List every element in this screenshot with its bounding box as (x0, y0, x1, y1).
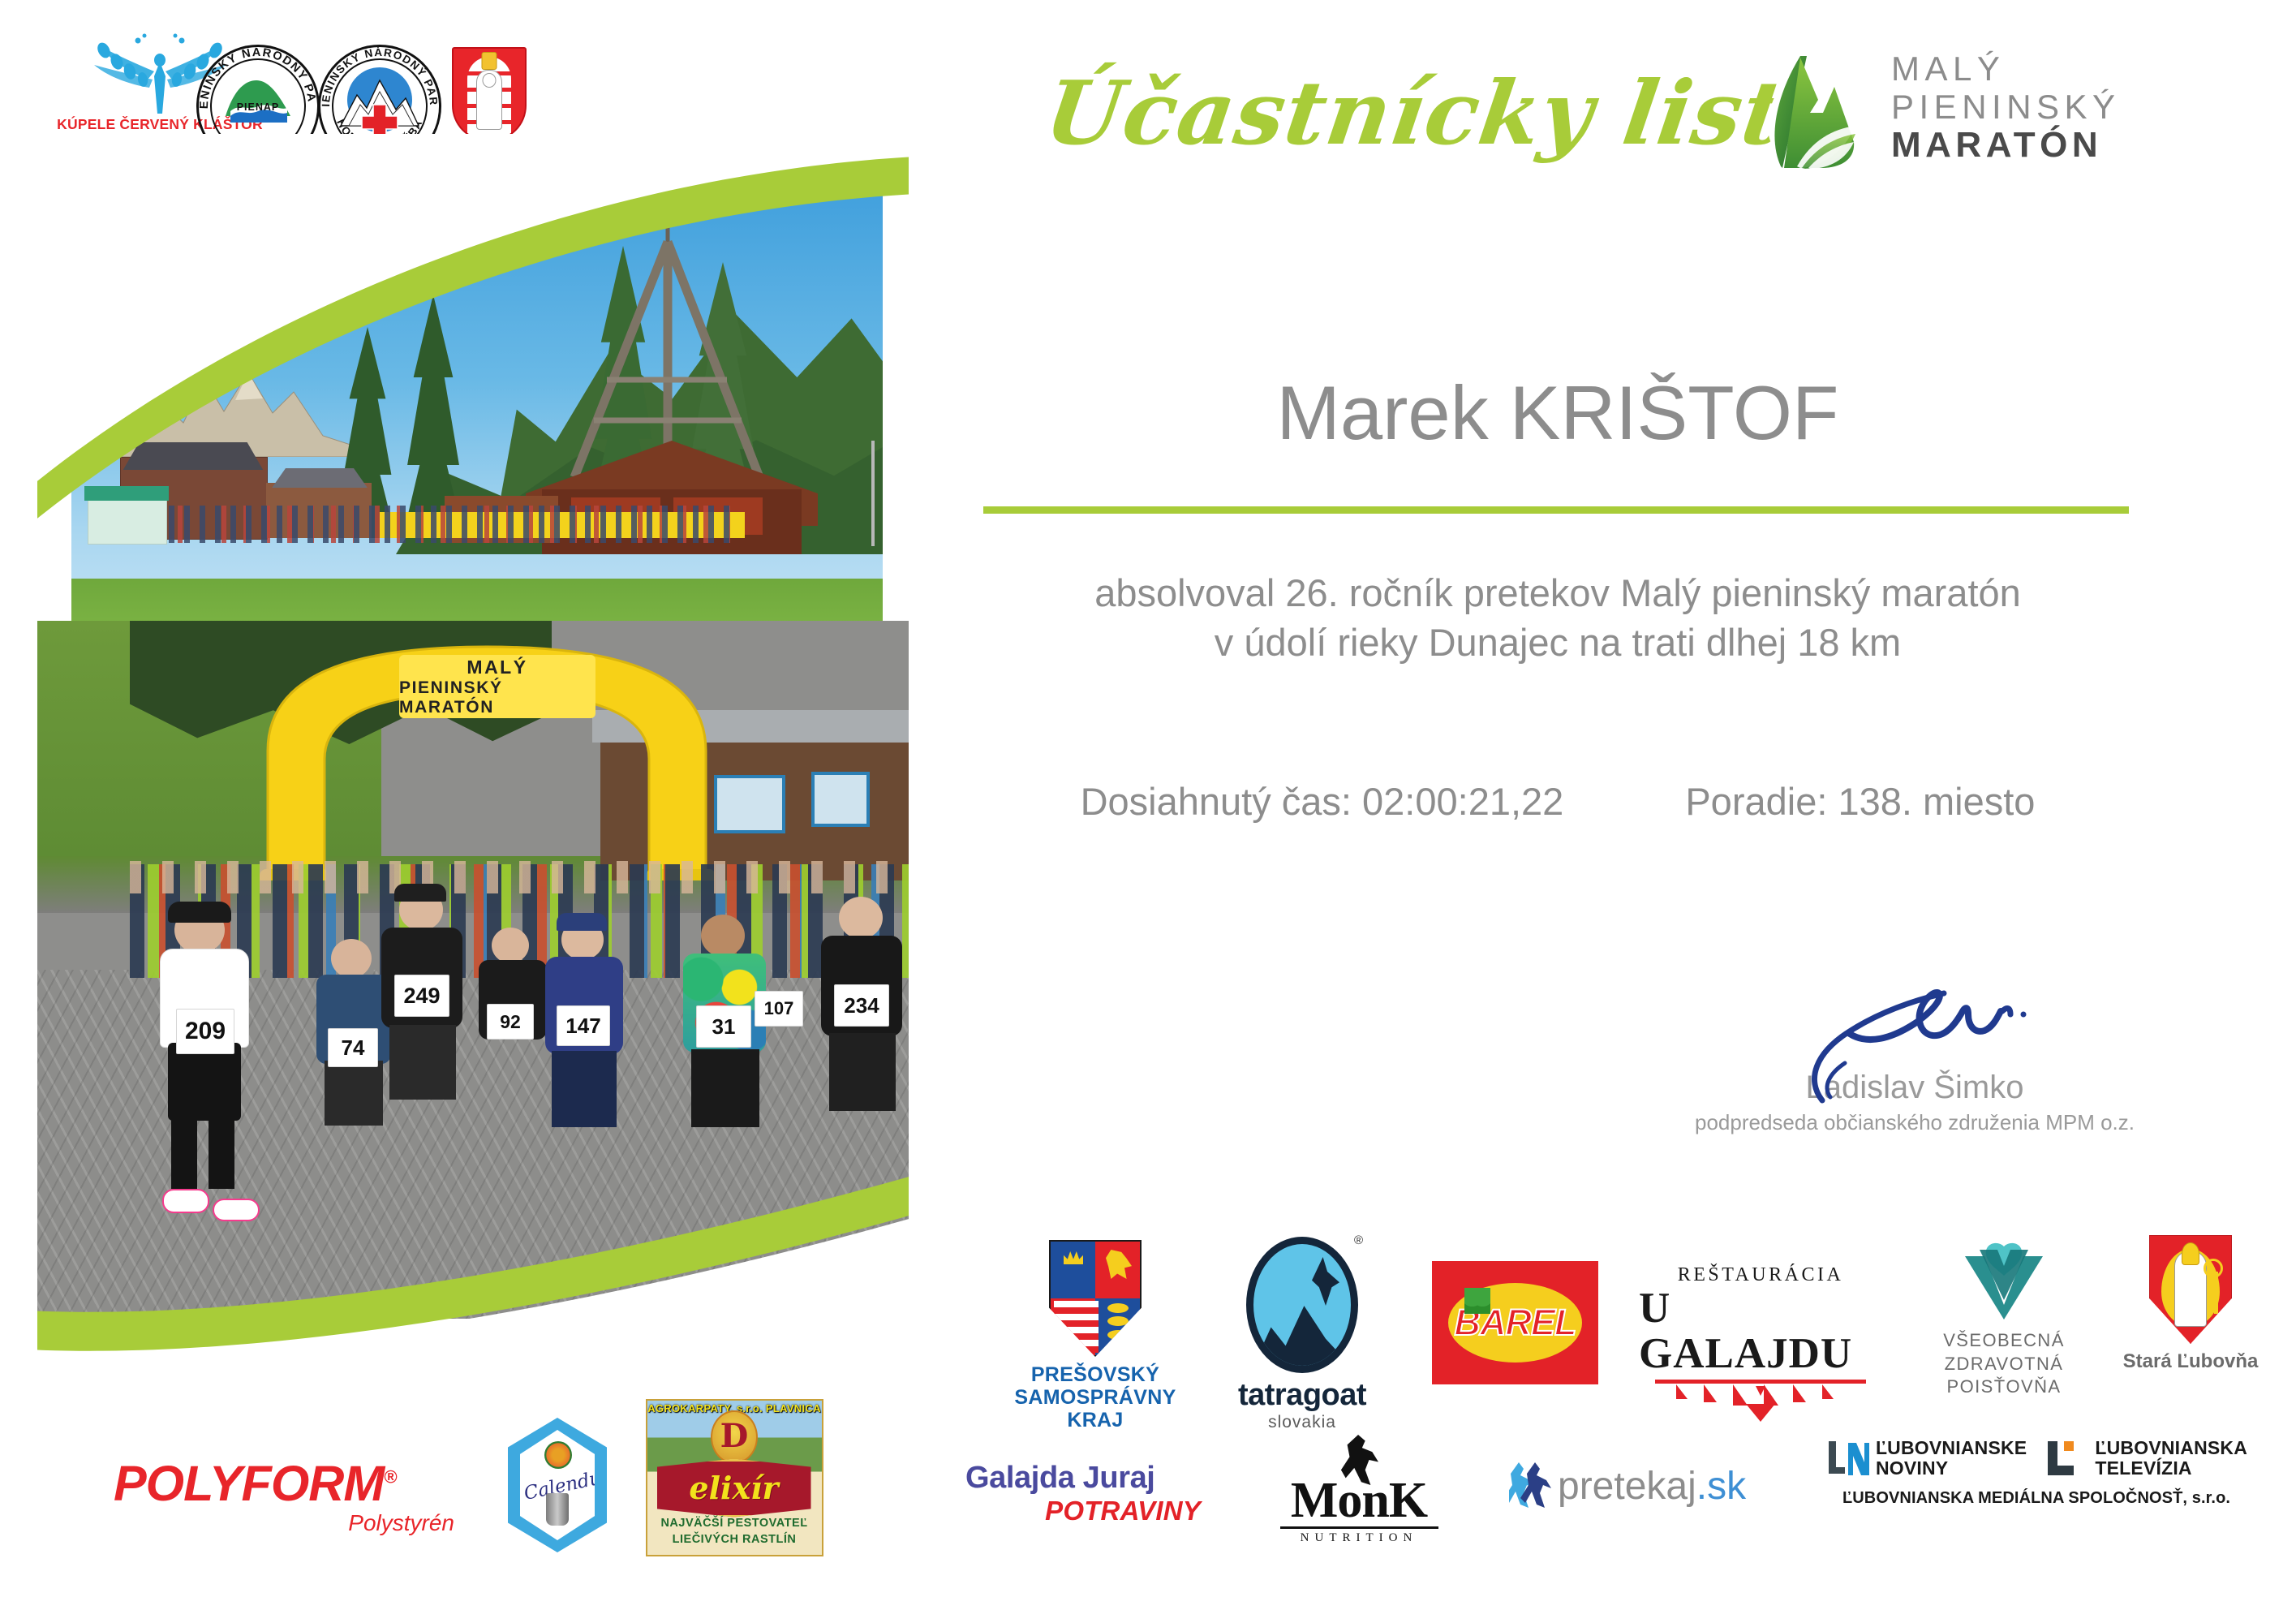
blue-hexagon-mortar-flower-icon: Calendula (508, 1418, 607, 1552)
runner-bib: 107 (755, 991, 803, 1027)
sponsor-monk-nutrition: MonK NUTRITION (1249, 1435, 1468, 1545)
oval-mountain-chamois-icon (1246, 1237, 1358, 1373)
sponsor-tatragoat: ® tatragoat slovakia (1209, 1237, 1395, 1432)
teal-v-heart-icon (1960, 1242, 2048, 1321)
sponsor-presovsky-samospravny-kraj: PREŠOVSKÝ SAMOSPRÁVNY KRAJ (1006, 1240, 1185, 1431)
results-row: Dosiahnutý čas: 02:00:21,22 Poradie: 138… (982, 779, 2134, 824)
two-runners-icon (1509, 1461, 1551, 1511)
galajda-line2: POTRAVINY (1045, 1496, 1201, 1526)
event-logo-line2: PIENINSKÝ (1891, 88, 2121, 126)
arch-banner-line1: MALÝ (467, 657, 527, 678)
clover-icon (1464, 1288, 1490, 1314)
participant-name: Marek KRIŠTOF (982, 369, 2134, 457)
red-shield-monk-coat-of-arms (452, 47, 527, 141)
runner-bib: 92 (487, 1004, 534, 1040)
sponsor-calendula: Calendula (497, 1412, 618, 1558)
pretekaj-wordmark: pretekaj.sk (1558, 1464, 1746, 1509)
ln-monogram-icon (1825, 1438, 1869, 1479)
elixir-label-icon: AGROKARPATY, s.r.o. PLAVNICA D elixír NA… (646, 1399, 823, 1556)
red-shield-bishop-coat-of-arms-icon (2149, 1235, 2232, 1344)
page-title: Účastnícky list (1038, 57, 1785, 170)
psk-caption: PREŠOVSKÝ SAMOSPRÁVNY KRAJ (1014, 1363, 1176, 1431)
televizia-l1: ĽUBOVNIANSKA (2095, 1438, 2247, 1458)
psk-caption-l2: SAMOSPRÁVNY (1014, 1386, 1176, 1409)
sponsor-restauracia-u-galajdu: REŠTAURÁCIA U GALAJDU (1639, 1264, 1882, 1422)
barel-logo-icon: BAREL (1432, 1261, 1598, 1384)
elixir-tagline-1: NAJVÄČŠÍ PESTOVATEĽ (647, 1517, 822, 1530)
sponsor-polyform: POLYFORM® Polystyrén (114, 1453, 454, 1542)
event-logo-line1: MALÝ (1891, 50, 2121, 88)
runner-bib: 234 (834, 984, 889, 1027)
media-company-caption: ĽUBOVNIANSKA MEDIÁLNA SPOLOČNOSŤ, s.r.o. (1842, 1489, 2230, 1508)
psk-caption-l3: KRAJ (1014, 1409, 1176, 1431)
statement-line-1: absolvoval 26. ročník pretekov Malý pien… (982, 568, 2134, 618)
calendula-wordmark: Calendula (522, 1464, 621, 1505)
signature-block: Ladislav Šimko podpredseda občianského z… (1663, 982, 2166, 1135)
pretekaj-word: pretekaj (1558, 1465, 1696, 1508)
photo-amphitheatre (71, 173, 883, 668)
runner-bib: 209 (176, 1009, 234, 1054)
result-rank: Poradie: 138. miesto (1685, 779, 2035, 824)
runner-bib: 249 (394, 975, 449, 1017)
sponsor-grid: PREŠOVSKÝ SAMOSPRÁVNY KRAJ ® tatragoat s… (957, 1217, 2296, 1623)
media-outlet-noviny: ĽUBOVNIANSKE NOVINY (1825, 1438, 2027, 1479)
televizia-l2: TELEVÍZIA (2095, 1458, 2247, 1479)
monk-rule (1280, 1526, 1438, 1529)
tatragoat-wordmark: tatragoat (1238, 1378, 1366, 1413)
handwritten-signature-icon (1663, 982, 2166, 1104)
statement-line-2: v údolí rieky Dunajec na trati dlhej 18 … (982, 618, 2134, 667)
galajdu-top-line: REŠTAURÁCIA (1678, 1264, 1844, 1286)
elixir-tagline-2: LIEČIVÝCH RASTLÍN (647, 1533, 822, 1546)
tatragoat-subtitle: slovakia (1268, 1413, 1336, 1432)
sponsor-agrokarpaty-elixir: AGROKARPATY, s.r.o. PLAVNICA D elixír NA… (641, 1394, 828, 1561)
vzp-caption: VŠEOBECNÁ ZDRAVOTNÁ POISŤOVŇA (1943, 1329, 2065, 1399)
tv-monogram-icon (2044, 1438, 2088, 1479)
sponsor-lubovnianska-medialna-spolocnost: ĽUBOVNIANSKE NOVINY ĽUBOVNIANSKA TELEVÍZ… (1793, 1438, 2280, 1508)
vzp-caption-l1: VŠEOBECNÁ (1943, 1329, 2065, 1353)
photo-panel: MALÝ PIENINSKÝ MARATÓN 209 (0, 134, 957, 1400)
sponsor-galajda-juraj-potraviny: Galajda Juraj POTRAVINY (965, 1461, 1201, 1526)
stara-lubovna-caption: Stará Ľubovňa (2123, 1350, 2259, 1373)
runner-bib: 74 (328, 1028, 378, 1067)
sponsor-vseobecna-zdravotna-poistovna: VŠEOBECNÁ ZDRAVOTNÁ POISŤOVŇA (1923, 1242, 2085, 1399)
name-divider-rule (983, 506, 2129, 514)
noviny-l1: ĽUBOVNIANSKE (1876, 1438, 2027, 1458)
arch-banner-line2: PIENINSKÝ MARATÓN (399, 678, 595, 717)
polyform-word: POLYFORM (114, 1456, 384, 1511)
certificate-page: KÚPELE ČERVENÝ KLÁŠTOR Smerdžonka PIENIN… (0, 0, 2296, 1623)
psk-caption-l1: PREŠOVSKÝ (1014, 1363, 1176, 1386)
event-logo: MALÝ PIENINSKÝ MARATÓN (1765, 42, 2268, 172)
runner-bib: 31 (696, 1005, 751, 1048)
pretekaj-tld: .sk (1696, 1465, 1746, 1508)
sponsor-stara-lubovna: Stará Ľubovňa (2109, 1235, 2272, 1373)
elixir-wordmark: elixír (689, 1470, 778, 1506)
sponsor-pretekaj-sk: pretekaj.sk (1509, 1461, 1777, 1511)
arch-banner: MALÝ PIENINSKÝ MARATÓN (399, 655, 595, 718)
tatragoat-registered-icon: ® (1354, 1233, 1363, 1247)
galajda-line1: Galajda Juraj (965, 1461, 1154, 1496)
noviny-l2: NOVINY (1876, 1458, 2027, 1479)
signatory-role: podpredseda občianského združenia MPM o.… (1663, 1110, 2166, 1135)
monk-subtitle: NUTRITION (1301, 1531, 1418, 1545)
polyform-wordmark: POLYFORM® (114, 1459, 396, 1509)
vzp-caption-l3: POISŤOVŇA (1943, 1375, 2065, 1399)
vzp-caption-l2: ZDRAVOTNÁ (1943, 1353, 2065, 1376)
event-logo-line3: MARATÓN (1891, 126, 2121, 165)
media-outlet-televizia: ĽUBOVNIANSKA TELEVÍZIA (2044, 1438, 2247, 1479)
quartered-shield-coat-of-arms-icon (1049, 1240, 1142, 1357)
polyform-subtitle: Polystyrén (348, 1510, 454, 1536)
monk-wordmark: MonK (1291, 1477, 1427, 1525)
runner-bib: 147 (557, 1005, 610, 1046)
green-leaf-mountain-mark (1765, 45, 1870, 170)
photo-runners-start: MALÝ PIENINSKÝ MARATÓN 209 (32, 621, 929, 1319)
sponsor-barel: BAREL (1420, 1261, 1610, 1384)
result-time: Dosiahnutý čas: 02:00:21,22 (1081, 779, 1564, 824)
red-folk-ornament-icon (1655, 1380, 1866, 1422)
polyform-registered-icon: ® (384, 1466, 396, 1487)
pienap-center-text: PIENAP (196, 101, 320, 113)
galajdu-wordmark: U GALAJDU (1639, 1286, 1882, 1376)
achievement-statement: absolvoval 26. ročník pretekov Malý pien… (982, 568, 2134, 667)
